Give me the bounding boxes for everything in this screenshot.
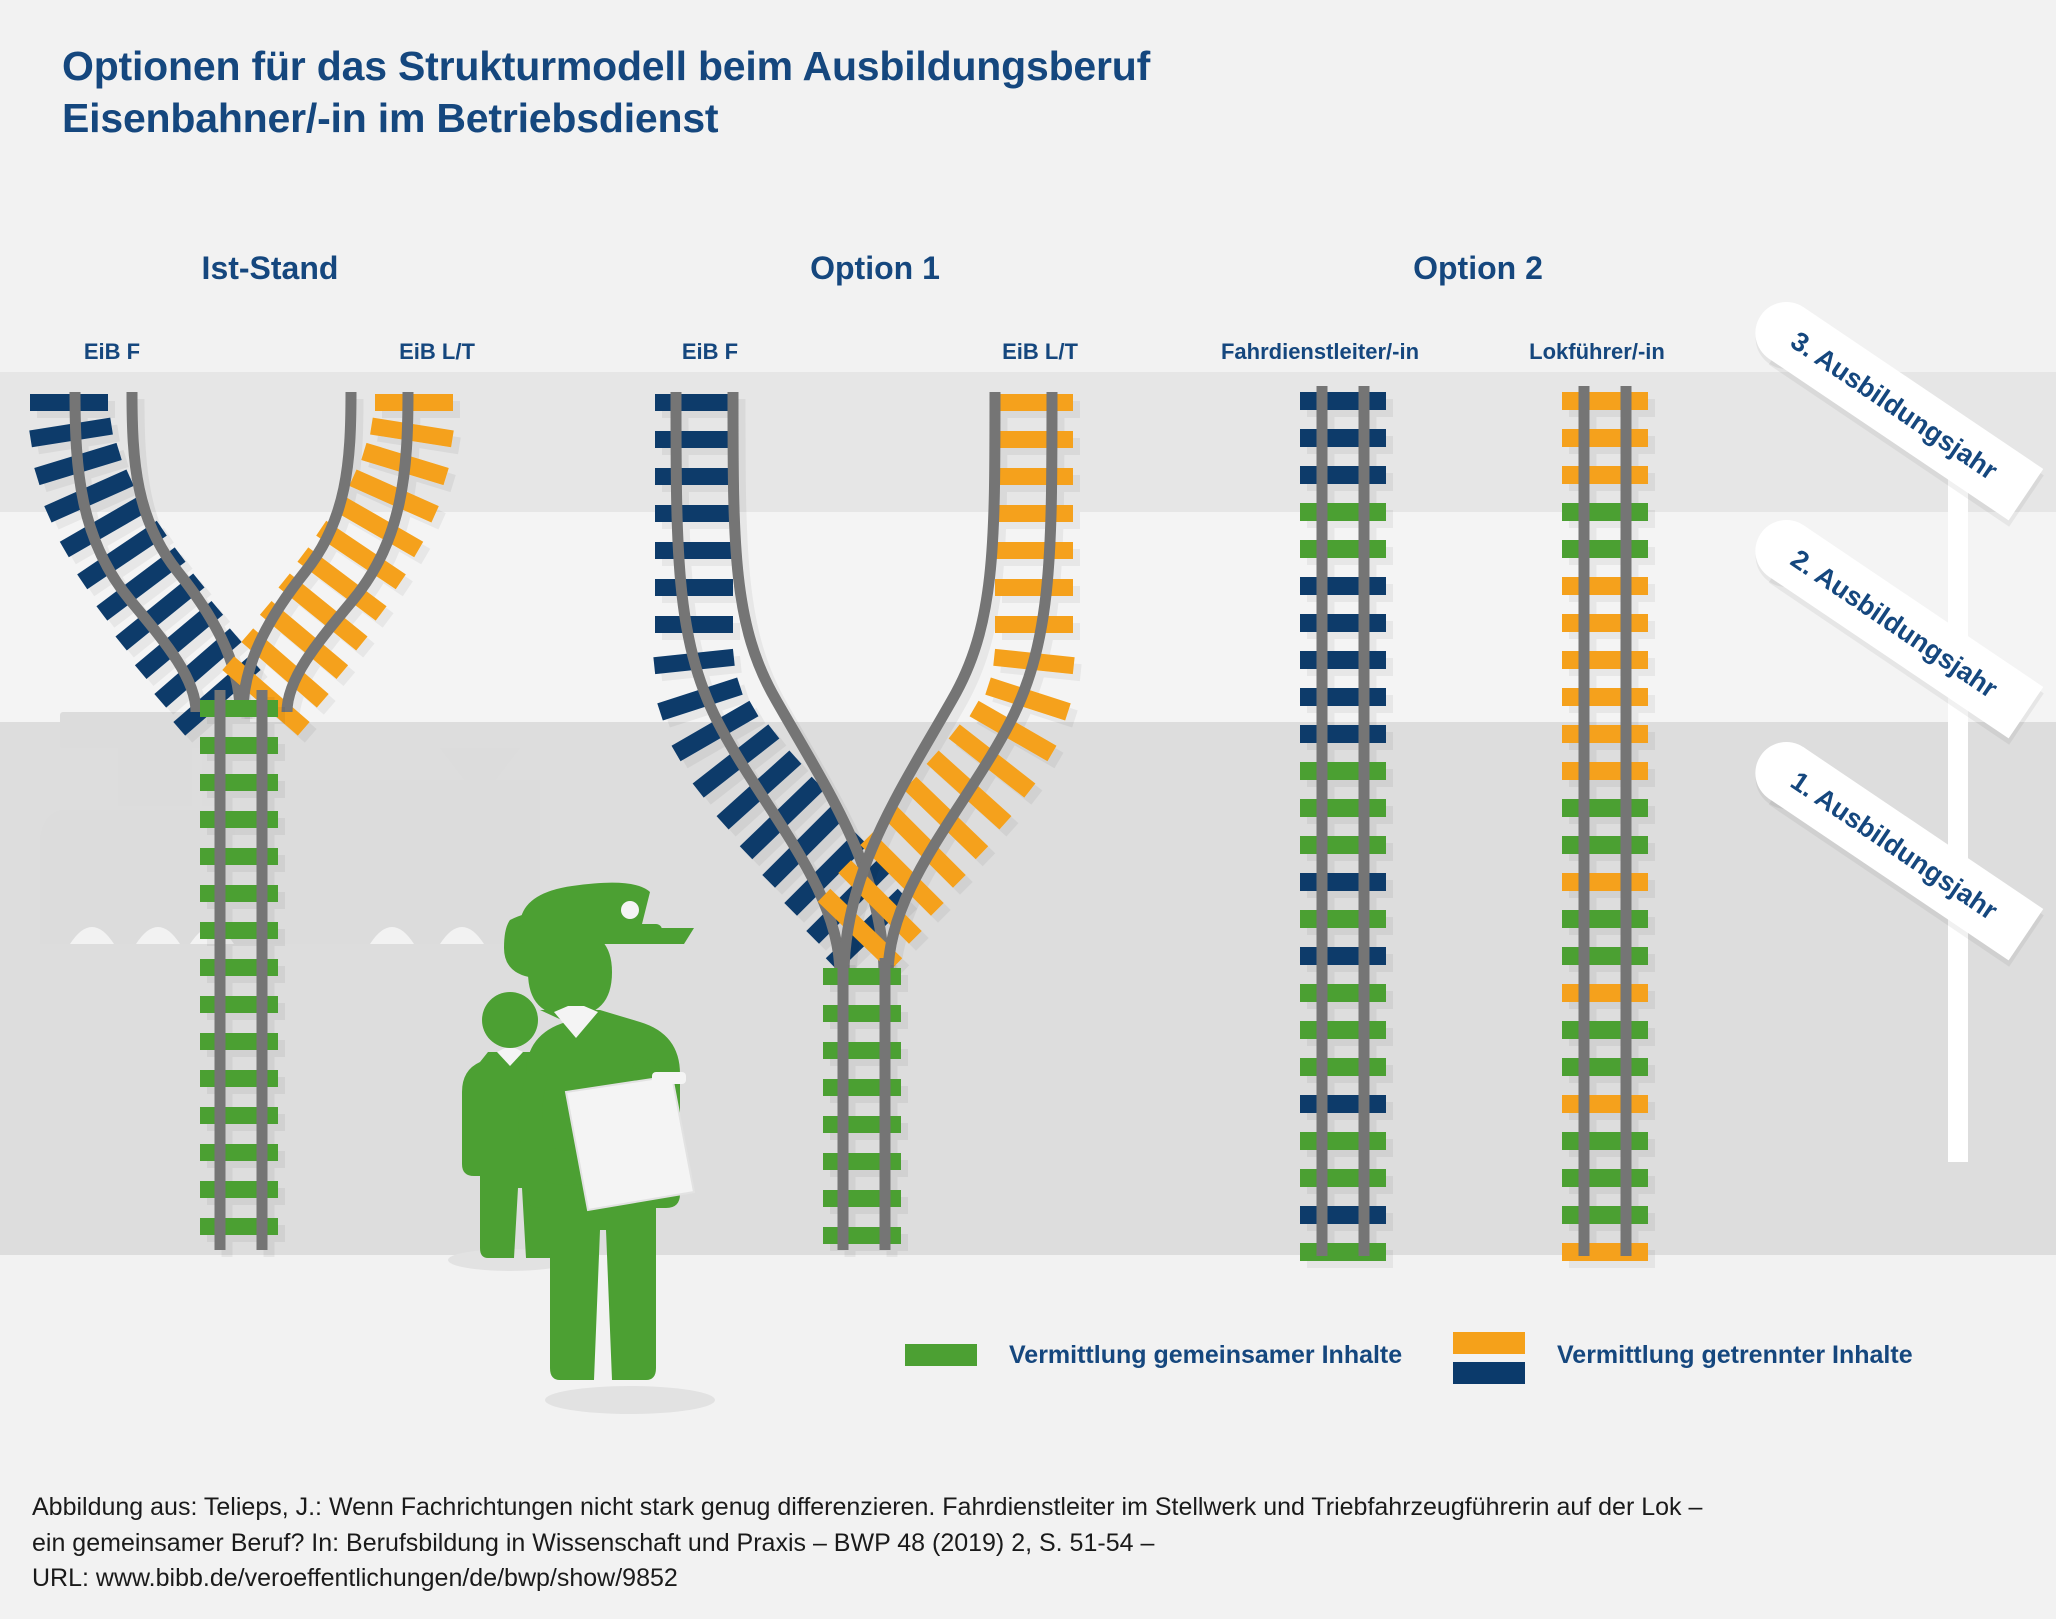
- track-sleeper: [1300, 725, 1386, 743]
- track-sleeper: [1300, 1021, 1386, 1039]
- track-sleeper: [1562, 947, 1648, 965]
- track-sleeper: [1300, 799, 1386, 817]
- track-option1-eib-lt: [818, 392, 1075, 975]
- track-sleeper: [1562, 1021, 1648, 1039]
- infographic-canvas: Optionen für das Strukturmodell beim Aus…: [0, 0, 2056, 1619]
- track-sleeper: [1300, 466, 1386, 484]
- track-sleeper: [1300, 1206, 1386, 1224]
- track-sleeper: [1562, 836, 1648, 854]
- column-heading-option-1: Option 1: [755, 250, 995, 287]
- legend-label-common: Vermittlung gemeinsamer Inhalte: [1009, 1341, 1402, 1370]
- track-sleeper: [1300, 392, 1386, 410]
- track-ist-stand-eib-lt: [222, 392, 453, 736]
- track-sleeper: [1562, 725, 1648, 743]
- clipboard-icon: [566, 1072, 694, 1210]
- legend-swatch-orange: [1453, 1332, 1525, 1354]
- track-ist-stand-eib-f: [29, 392, 260, 736]
- track-sleeper: [1562, 1058, 1648, 1076]
- people-illustration: [380, 860, 800, 1420]
- track-sleeper: [1562, 873, 1648, 891]
- track-sleeper: [1300, 429, 1386, 447]
- track-sleeper: [1300, 577, 1386, 595]
- track-sleeper: [1300, 762, 1386, 780]
- track-sleeper: [1562, 910, 1648, 928]
- track-sleeper: [1300, 873, 1386, 891]
- title-line-1: Optionen für das Strukturmodell beim Aus…: [62, 40, 1562, 92]
- track-sleeper: [1562, 429, 1648, 447]
- legend-swatch-navy: [1453, 1362, 1525, 1384]
- track-sleeper: [1562, 1132, 1648, 1150]
- track-label-option2-lokfuehrer: Lokführer/-in: [1487, 339, 1707, 365]
- track-sleeper: [1300, 910, 1386, 928]
- track-sleeper: [1300, 1095, 1386, 1113]
- track-sleeper: [1562, 688, 1648, 706]
- track-sleeper: [1562, 651, 1648, 669]
- track-sleeper: [1562, 503, 1648, 521]
- column-heading-option-2: Option 2: [1358, 250, 1598, 287]
- track-diagram: [0, 0, 2056, 1300]
- track-label-option1-eib-lt: EiB L/T: [950, 339, 1130, 365]
- track-sleeper: [1300, 1243, 1386, 1261]
- page-title: Optionen für das Strukturmodell beim Aus…: [62, 40, 1562, 144]
- track-label-option2-fahrdienstleiter: Fahrdienstleiter/-in: [1180, 339, 1460, 365]
- track-sleeper: [1300, 1132, 1386, 1150]
- track-sleeper: [1300, 614, 1386, 632]
- track-label-ist-stand-eib-lt: EiB L/T: [347, 339, 527, 365]
- track-sleeper: [1562, 540, 1648, 558]
- title-line-2: Eisenbahner/-in im Betriebsdienst: [62, 92, 1562, 144]
- track-sleeper: [1300, 984, 1386, 1002]
- track-sleeper: [1562, 799, 1648, 817]
- track-sleeper: [1562, 762, 1648, 780]
- track-label-option1-eib-f: EiB F: [620, 339, 800, 365]
- track-sleeper: [1300, 688, 1386, 706]
- source-line-1: Abbildung aus: Telieps, J.: Wenn Fachric…: [32, 1490, 2022, 1526]
- track-sleeper: [1300, 1169, 1386, 1187]
- legend-swatch-green: [905, 1344, 977, 1366]
- track-label-ist-stand-eib-f: EiB F: [22, 339, 202, 365]
- source-line-3: URL: www.bibb.de/veroeffentlichungen/de/…: [32, 1561, 2022, 1597]
- track-option2-fahrdienstleiter: [1300, 386, 1386, 1261]
- track-sleeper: [1562, 1169, 1648, 1187]
- track-sleeper: [1562, 392, 1648, 410]
- track-sleeper: [1300, 503, 1386, 521]
- track-option1-trunk: [823, 958, 901, 1250]
- track-sleeper: [1300, 836, 1386, 854]
- legend-label-separate: Vermittlung getrennter Inhalte: [1557, 1341, 1913, 1370]
- track-sleeper: [1562, 1206, 1648, 1224]
- track-sleeper: [1300, 947, 1386, 965]
- column-heading-ist-stand: Ist-Stand: [150, 250, 390, 287]
- track-sleeper: [1300, 651, 1386, 669]
- track-sleeper: [1562, 614, 1648, 632]
- track-sleeper: [1562, 466, 1648, 484]
- track-sleeper: [1562, 1243, 1648, 1261]
- track-ist-stand-trunk: [200, 690, 278, 1250]
- source-note: Abbildung aus: Telieps, J.: Wenn Fachric…: [32, 1490, 2022, 1597]
- track-sleeper: [1300, 540, 1386, 558]
- source-line-2: ein gemeinsamer Beruf? In: Berufsbildung…: [32, 1526, 2022, 1562]
- track-sleeper: [1562, 984, 1648, 1002]
- track-sleeper: [1300, 1058, 1386, 1076]
- track-sleeper: [1562, 577, 1648, 595]
- track-option2-lokfuehrer: [1562, 386, 1648, 1261]
- track-sleeper: [1562, 1095, 1648, 1113]
